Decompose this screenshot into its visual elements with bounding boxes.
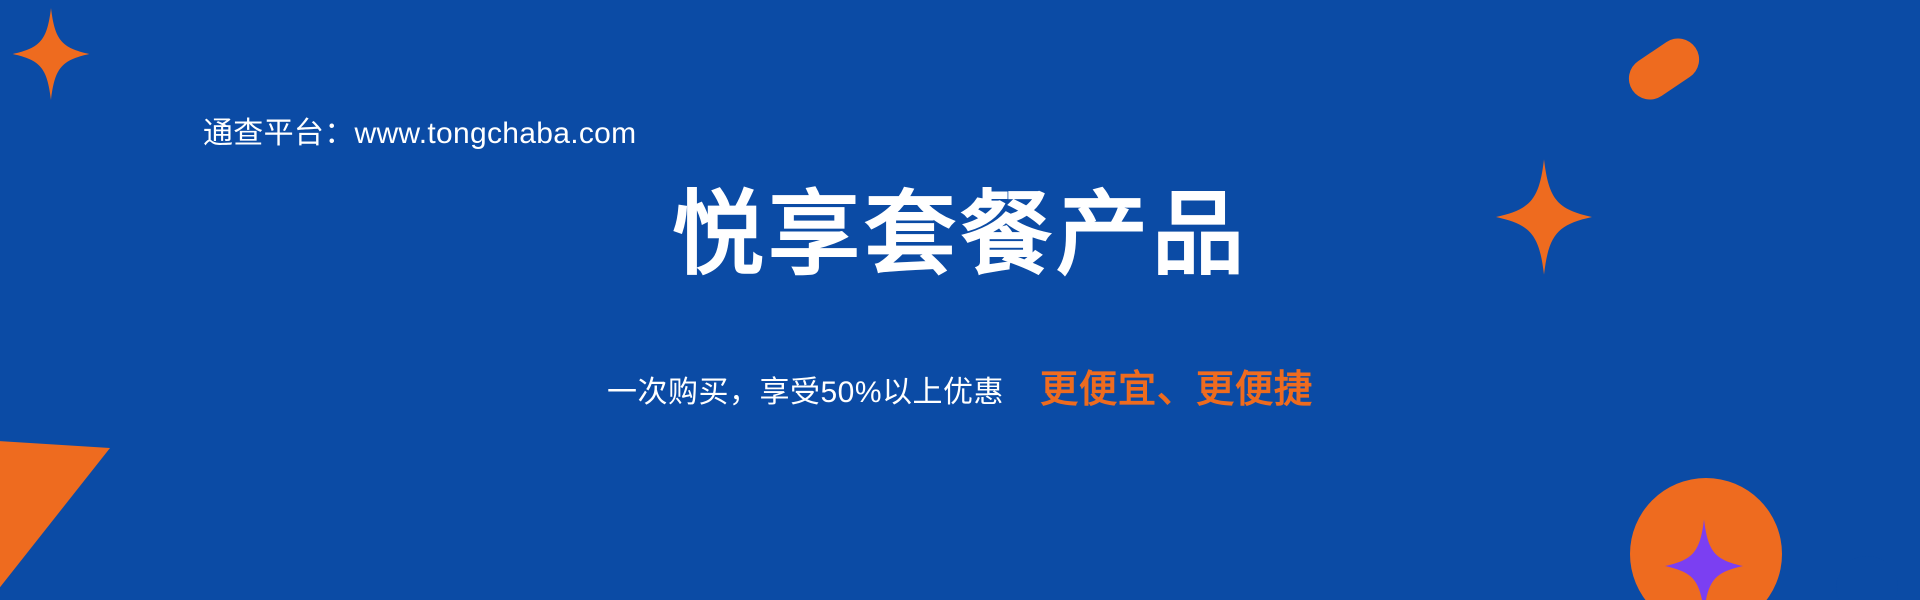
site-line: 通查平台：www.tongchaba.com [203,108,636,152]
subtitle-line: 一次购买，享受50%以上优惠更便宜、更便捷 [0,358,1920,413]
subtitle-highlight-text: 更便宜、更便捷 [1040,369,1313,411]
subtitle-plain-text: 一次购买，享受50%以上优惠 [607,376,1004,409]
promo-banner: 通查平台：www.tongchaba.com 悦享套餐产品 一次购买，享受50%… [0,0,1920,600]
platform-label: 通查平台： [203,117,355,150]
platform-url: www.tongchaba.com [355,117,637,150]
page-title: 悦享套餐产品 [0,186,1920,285]
banner-background [0,0,1920,600]
